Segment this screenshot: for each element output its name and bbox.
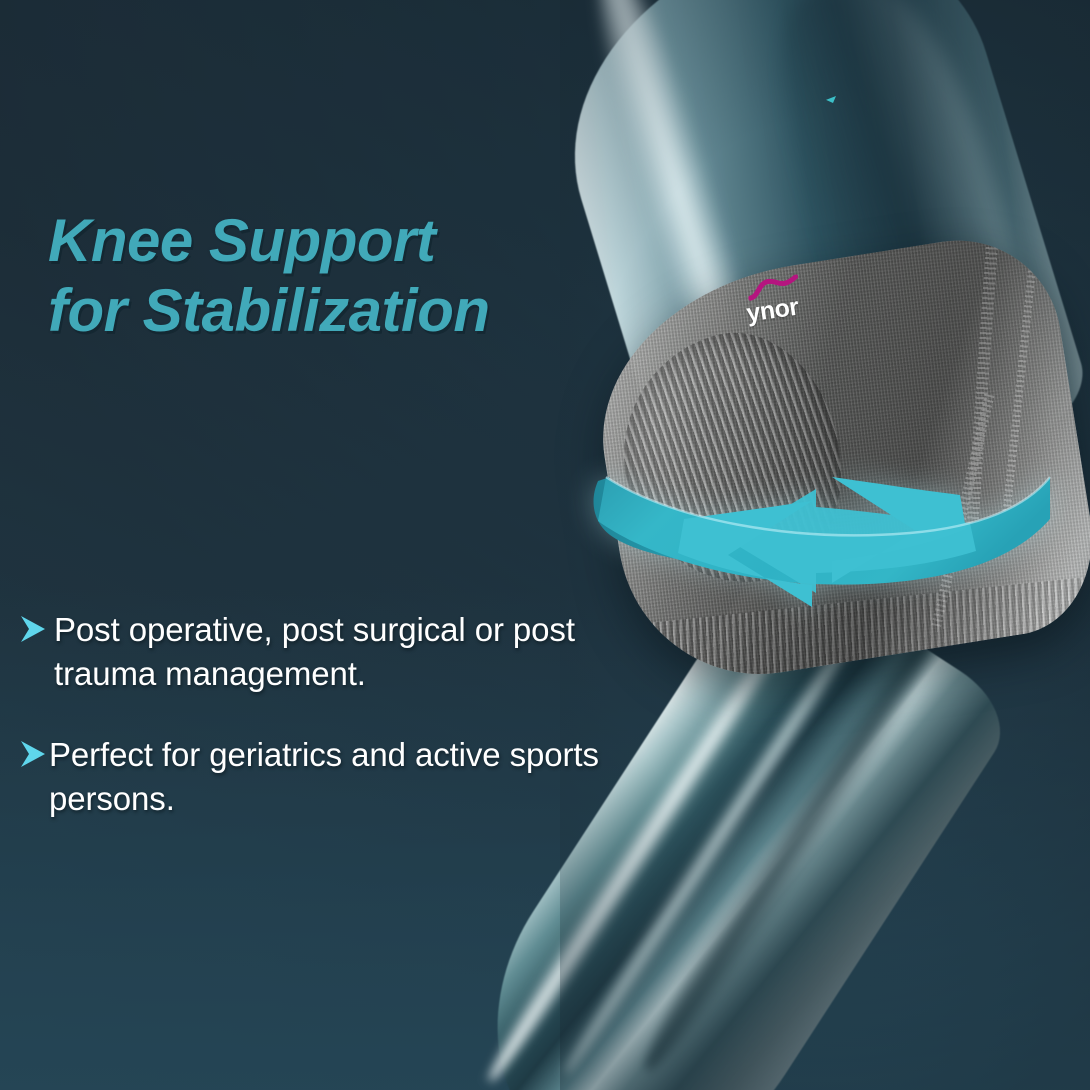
compression-direction-band (580, 415, 1060, 625)
list-item: Post operative, post surgical or post tr… (18, 608, 618, 695)
list-item: Perfect for geriatrics and active sports… (18, 733, 618, 820)
product-banner: ynor (0, 0, 1090, 1090)
list-item-label: Perfect for geriatrics and active sports… (49, 733, 618, 820)
product-photo: ynor (560, 0, 1090, 1090)
band-arrows-icon (580, 415, 1060, 625)
list-item-label: Post operative, post surgical or post tr… (54, 608, 618, 695)
page-title: Knee Support for Stabilization (48, 206, 668, 346)
feature-list: Post operative, post surgical or post tr… (18, 608, 618, 820)
arrowhead-bullet-icon (18, 612, 48, 646)
arrowhead-bullet-icon (18, 737, 48, 771)
